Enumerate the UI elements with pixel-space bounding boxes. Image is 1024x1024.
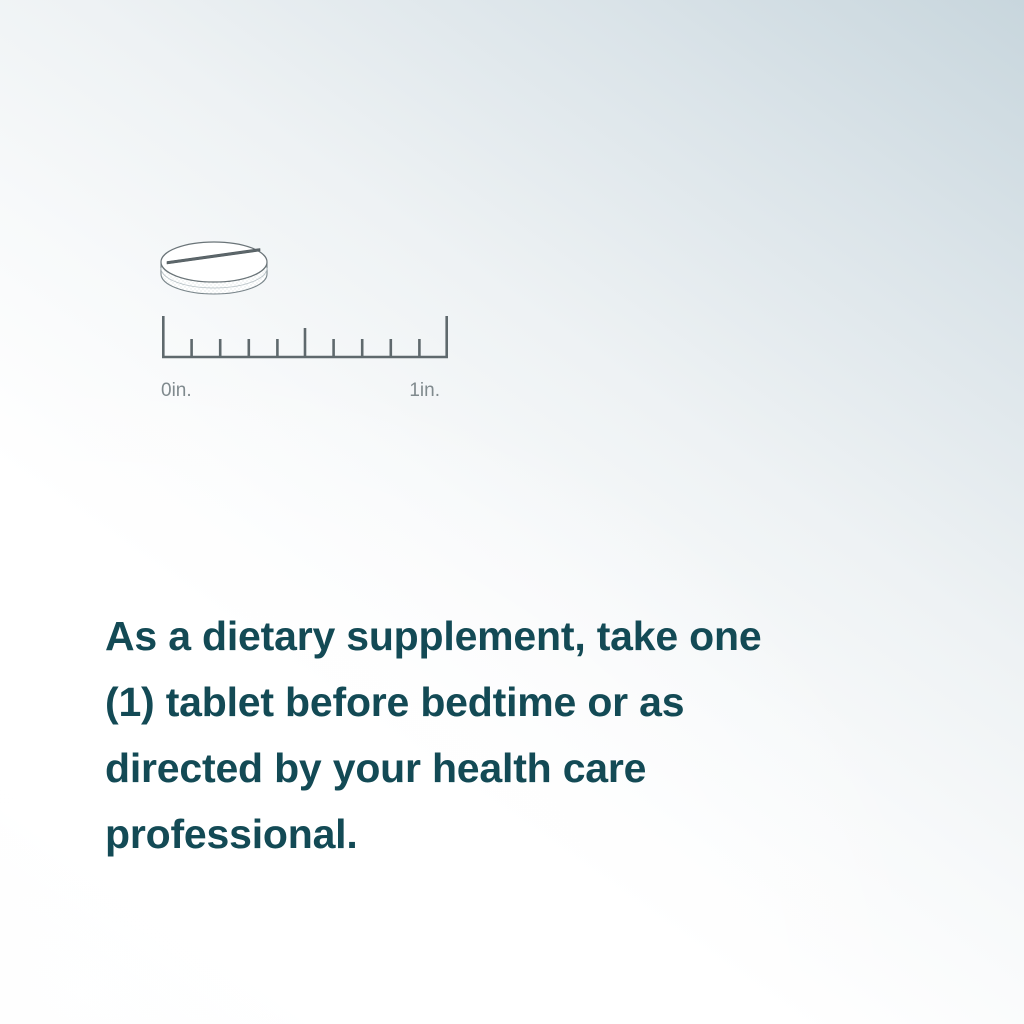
directions-line: directed by your health care	[105, 735, 915, 801]
round-scored-tablet-icon	[161, 242, 267, 294]
ruler-end-label: 1in.	[409, 380, 440, 401]
ruler-icon	[162, 316, 448, 357]
directions-line: As a dietary supplement, take one	[105, 603, 915, 669]
ruler-start-label: 0in.	[161, 380, 192, 401]
tablet-size-reference: 0in. 1in.	[150, 216, 480, 406]
directions-line: professional.	[105, 801, 915, 867]
directions-line: (1) tablet before bedtime or as	[105, 669, 915, 735]
directions-text: As a dietary supplement, take one (1) ta…	[105, 603, 915, 867]
supplement-directions-panel: 0in. 1in. As a dietary supplement, take …	[0, 0, 1024, 1024]
